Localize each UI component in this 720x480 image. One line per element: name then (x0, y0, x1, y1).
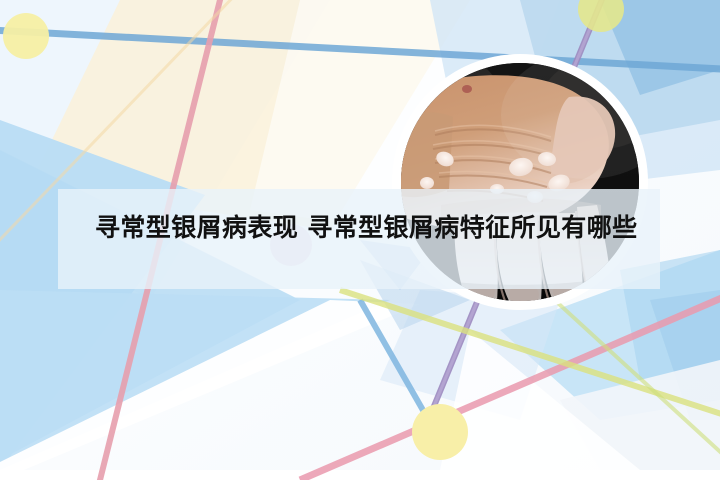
title-band: 寻常型银屑病表现 寻常型银屑病特征所见有哪些 (58, 189, 660, 289)
yellow-dot-bottom-center-icon (412, 404, 468, 460)
page-title: 寻常型银屑病表现 寻常型银屑病特征所见有哪些 (95, 208, 640, 248)
yellow-dot-top-left-icon (3, 13, 49, 59)
strip-bottom (0, 470, 720, 480)
article-thumbnail-card: 寻常型银屑病表现 寻常型银屑病特征所见有哪些 (0, 0, 720, 480)
